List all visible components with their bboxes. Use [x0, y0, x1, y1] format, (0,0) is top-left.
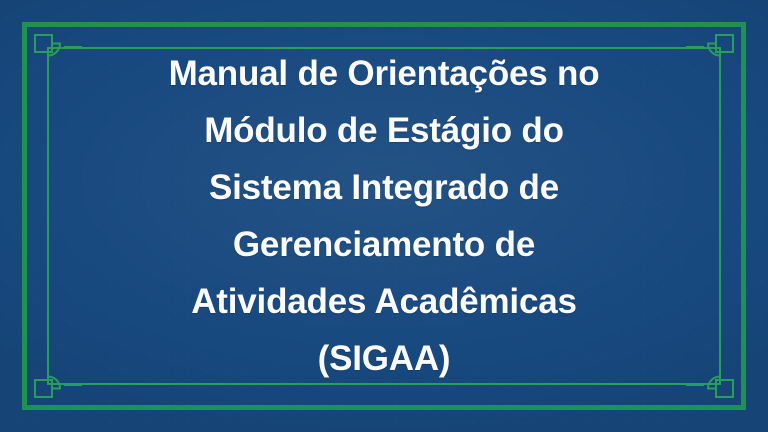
- title-line-6: (SIGAA): [318, 330, 451, 387]
- slide-title: Manual de Orientações no Módulo de Estág…: [60, 50, 708, 382]
- inner-rule-left: [47, 47, 49, 385]
- title-slide: Manual de Orientações no Módulo de Estág…: [0, 0, 768, 432]
- title-line-4: Gerenciamento de: [233, 216, 535, 273]
- inner-rule-right: [719, 47, 721, 385]
- title-line-5: Atividades Acadêmicas: [191, 273, 577, 330]
- title-line-3: Sistema Integrado de: [209, 159, 559, 216]
- title-line-2: Módulo de Estágio do: [204, 102, 564, 159]
- title-line-1: Manual de Orientações no: [169, 45, 600, 102]
